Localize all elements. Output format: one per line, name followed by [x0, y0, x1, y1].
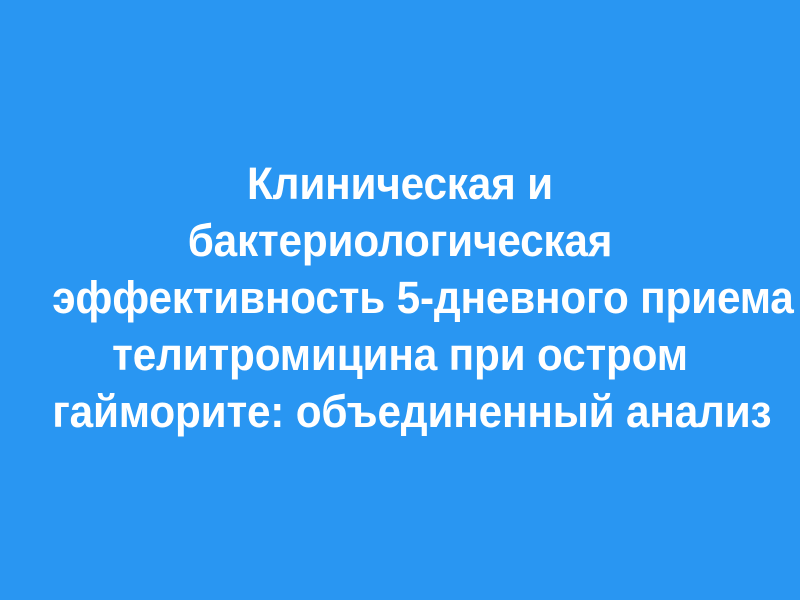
title-line-3: эффективность 5-дневного приема	[52, 269, 748, 326]
title-line-4: телитромицина при остром	[52, 326, 748, 383]
title-card: Клиническая и бактериологическая эффекти…	[0, 0, 800, 600]
title-line-5: гайморите: объединенный анализ	[52, 383, 748, 440]
page-title: Клиническая и бактериологическая эффекти…	[20, 155, 780, 440]
title-line-2: бактериологическая	[52, 212, 748, 269]
title-line-1: Клиническая и	[52, 155, 748, 212]
